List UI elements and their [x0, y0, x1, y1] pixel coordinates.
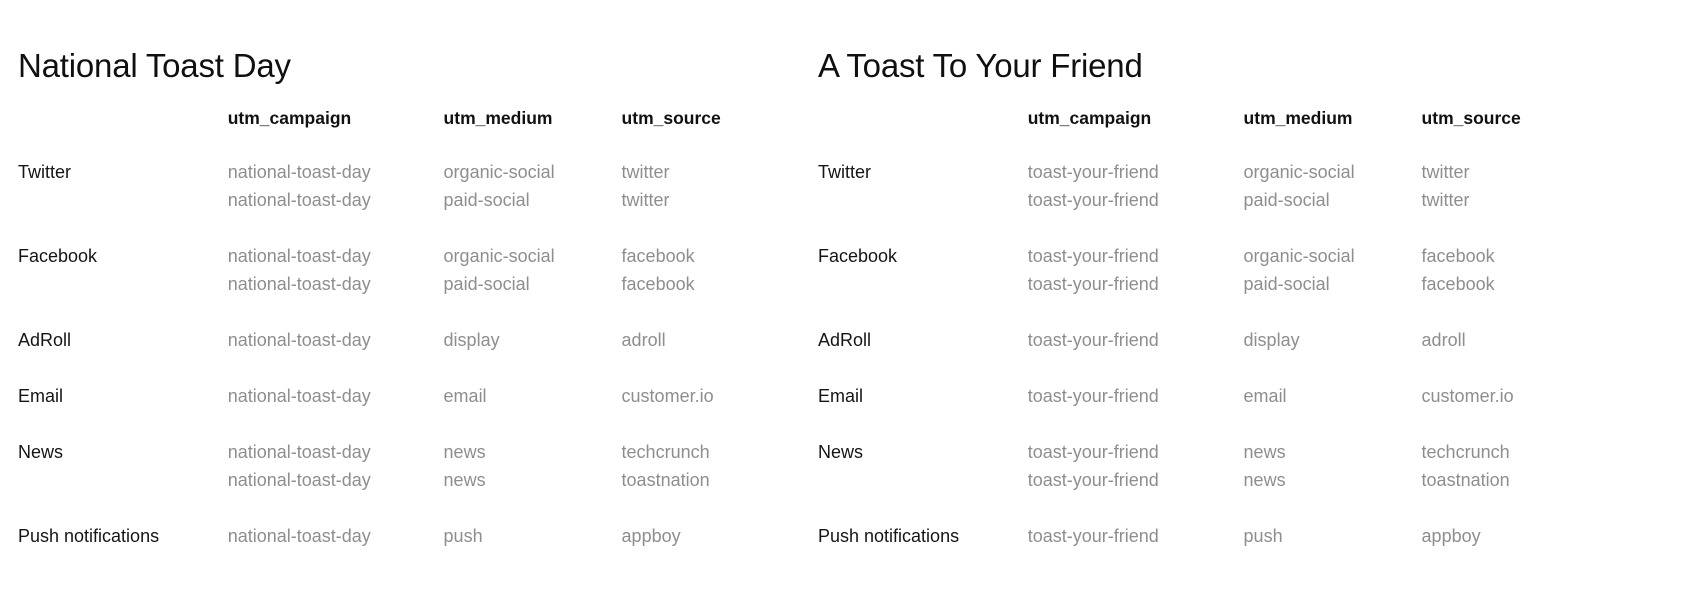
- value-stack: national-toast-day: [228, 382, 444, 410]
- column-header-channel: [818, 104, 1028, 158]
- value-text: paid-social: [1244, 270, 1422, 298]
- value-text: customer.io: [622, 382, 818, 410]
- row-label-email: Email: [818, 382, 1028, 438]
- column-header-utm-campaign: utm_campaign: [1028, 104, 1244, 158]
- cell-utm-source: customer.io: [1422, 382, 1618, 438]
- value-text: techcrunch: [622, 438, 818, 466]
- cell-utm-medium: email: [1244, 382, 1422, 438]
- value-stack: appboy: [622, 522, 818, 550]
- value-text: organic-social: [1244, 158, 1422, 186]
- cell-utm-medium: organic-socialpaid-social: [444, 158, 622, 242]
- cell-utm-medium: email: [444, 382, 622, 438]
- value-text: organic-social: [1244, 242, 1422, 270]
- page-title: National Toast Day: [18, 46, 291, 86]
- row-label-news: News: [818, 438, 1028, 522]
- value-stack: appboy: [1422, 522, 1618, 550]
- value-text: toast-your-friend: [1028, 242, 1244, 270]
- value-stack: twittertwitter: [1422, 158, 1618, 214]
- row-label-email: Email: [18, 382, 228, 438]
- value-stack: customer.io: [1422, 382, 1618, 410]
- value-stack: toast-your-friendtoast-your-friend: [1028, 158, 1244, 214]
- table-row: Emailtoast-your-friendemailcustomer.io: [818, 382, 1618, 438]
- value-text: appboy: [1422, 522, 1618, 550]
- value-stack: toast-your-friendtoast-your-friend: [1028, 242, 1244, 298]
- column-header-utm-medium: utm_medium: [1244, 104, 1422, 158]
- row-label-push-notifications: Push notifications: [818, 522, 1028, 550]
- value-text: national-toast-day: [228, 158, 444, 186]
- value-stack: email: [444, 382, 622, 410]
- value-text: display: [444, 326, 622, 354]
- cell-utm-source: twittertwitter: [1422, 158, 1618, 242]
- table-row: Push notificationsnational-toast-daypush…: [18, 522, 818, 550]
- value-stack: organic-socialpaid-social: [444, 242, 622, 298]
- row-label-twitter: Twitter: [818, 158, 1028, 242]
- value-text: toast-your-friend: [1028, 438, 1244, 466]
- value-stack: display: [444, 326, 622, 354]
- value-stack: toast-your-friend: [1028, 382, 1244, 410]
- column-header-utm-campaign: utm_campaign: [228, 104, 444, 158]
- value-stack: email: [1244, 382, 1422, 410]
- value-text: national-toast-day: [228, 270, 444, 298]
- table-row: Facebooktoast-your-friendtoast-your-frie…: [818, 242, 1618, 326]
- value-stack: facebookfacebook: [622, 242, 818, 298]
- value-text: paid-social: [444, 186, 622, 214]
- value-text: facebook: [1422, 242, 1618, 270]
- value-text: email: [1244, 382, 1422, 410]
- value-stack: national-toast-day: [228, 522, 444, 550]
- cell-utm-campaign: national-toast-day: [228, 382, 444, 438]
- table-header: utm_campaign utm_medium utm_source: [18, 104, 818, 158]
- cell-utm-medium: organic-socialpaid-social: [444, 242, 622, 326]
- page-title: A Toast To Your Friend: [818, 46, 1143, 86]
- column-header-utm-source: utm_source: [1422, 104, 1618, 158]
- value-stack: toast-your-friend: [1028, 522, 1244, 550]
- value-text: twitter: [1422, 158, 1618, 186]
- value-text: news: [444, 466, 622, 494]
- value-text: twitter: [622, 186, 818, 214]
- value-text: appboy: [622, 522, 818, 550]
- value-stack: organic-socialpaid-social: [1244, 242, 1422, 298]
- cell-utm-campaign: toast-your-friendtoast-your-friend: [1028, 242, 1244, 326]
- cell-utm-campaign: national-toast-daynational-toast-day: [228, 438, 444, 522]
- value-stack: national-toast-daynational-toast-day: [228, 242, 444, 298]
- value-stack: facebookfacebook: [1422, 242, 1618, 298]
- row-label-facebook: Facebook: [818, 242, 1028, 326]
- value-text: adroll: [622, 326, 818, 354]
- value-text: toastnation: [1422, 466, 1618, 494]
- row-label-twitter: Twitter: [18, 158, 228, 242]
- value-text: customer.io: [1422, 382, 1618, 410]
- utm-reference-sheet: National Toast Day utm_campaign utm_medi…: [0, 0, 1682, 598]
- value-text: techcrunch: [1422, 438, 1618, 466]
- value-stack: techcrunchtoastnation: [622, 438, 818, 494]
- cell-utm-source: adroll: [1422, 326, 1618, 382]
- cell-utm-source: appboy: [622, 522, 818, 550]
- cell-utm-source: appboy: [1422, 522, 1618, 550]
- value-stack: customer.io: [622, 382, 818, 410]
- value-text: toastnation: [622, 466, 818, 494]
- value-text: push: [444, 522, 622, 550]
- cell-utm-source: facebookfacebook: [622, 242, 818, 326]
- cell-utm-campaign: national-toast-daynational-toast-day: [228, 158, 444, 242]
- cell-utm-source: facebookfacebook: [1422, 242, 1618, 326]
- value-stack: push: [1244, 522, 1422, 550]
- value-stack: adroll: [1422, 326, 1618, 354]
- table-row: Facebooknational-toast-daynational-toast…: [18, 242, 818, 326]
- row-label-push-notifications: Push notifications: [18, 522, 228, 550]
- value-stack: toast-your-friendtoast-your-friend: [1028, 438, 1244, 494]
- value-text: facebook: [622, 270, 818, 298]
- table-row: Twittertoast-your-friendtoast-your-frien…: [818, 158, 1618, 242]
- row-label-facebook: Facebook: [18, 242, 228, 326]
- column-header-channel: [18, 104, 228, 158]
- value-text: toast-your-friend: [1028, 382, 1244, 410]
- cell-utm-campaign: toast-your-friendtoast-your-friend: [1028, 438, 1244, 522]
- cell-utm-medium: newsnews: [1244, 438, 1422, 522]
- value-text: facebook: [622, 242, 818, 270]
- cell-utm-medium: push: [444, 522, 622, 550]
- row-label-adroll: AdRoll: [818, 326, 1028, 382]
- value-text: news: [1244, 466, 1422, 494]
- table-row: Push notificationstoast-your-friendpusha…: [818, 522, 1618, 550]
- value-stack: techcrunchtoastnation: [1422, 438, 1618, 494]
- value-text: toast-your-friend: [1028, 186, 1244, 214]
- value-text: push: [1244, 522, 1422, 550]
- cell-utm-source: adroll: [622, 326, 818, 382]
- cell-utm-medium: push: [1244, 522, 1422, 550]
- value-stack: twittertwitter: [622, 158, 818, 214]
- value-text: national-toast-day: [228, 242, 444, 270]
- value-stack: national-toast-day: [228, 326, 444, 354]
- table-row: Newstoast-your-friendtoast-your-friendne…: [818, 438, 1618, 522]
- value-stack: newsnews: [444, 438, 622, 494]
- table-header: utm_campaign utm_medium utm_source: [818, 104, 1618, 158]
- cell-utm-campaign: national-toast-daynational-toast-day: [228, 242, 444, 326]
- table-header-row: utm_campaign utm_medium utm_source: [818, 104, 1618, 158]
- value-text: news: [1244, 438, 1422, 466]
- cell-utm-source: techcrunchtoastnation: [1422, 438, 1618, 522]
- table-row: Newsnational-toast-daynational-toast-day…: [18, 438, 818, 522]
- cell-utm-campaign: toast-your-friendtoast-your-friend: [1028, 158, 1244, 242]
- table-row: Twitternational-toast-daynational-toast-…: [18, 158, 818, 242]
- cell-utm-source: techcrunchtoastnation: [622, 438, 818, 522]
- cell-utm-medium: display: [444, 326, 622, 382]
- value-stack: national-toast-daynational-toast-day: [228, 158, 444, 214]
- value-stack: newsnews: [1244, 438, 1422, 494]
- value-stack: national-toast-daynational-toast-day: [228, 438, 444, 494]
- value-text: adroll: [1422, 326, 1618, 354]
- value-text: twitter: [622, 158, 818, 186]
- cell-utm-campaign: toast-your-friend: [1028, 326, 1244, 382]
- value-text: toast-your-friend: [1028, 522, 1244, 550]
- value-text: facebook: [1422, 270, 1618, 298]
- value-text: organic-social: [444, 242, 622, 270]
- campaign-panel-national-toast-day: National Toast Day utm_campaign utm_medi…: [0, 0, 800, 598]
- utm-table: utm_campaign utm_medium utm_source Twitt…: [818, 104, 1618, 550]
- row-label-news: News: [18, 438, 228, 522]
- value-text: paid-social: [444, 270, 622, 298]
- cell-utm-campaign: national-toast-day: [228, 522, 444, 550]
- value-text: national-toast-day: [228, 382, 444, 410]
- campaign-panel-toast-your-friend: A Toast To Your Friend utm_campaign utm_…: [800, 0, 1600, 598]
- value-text: toast-your-friend: [1028, 326, 1244, 354]
- column-header-utm-source: utm_source: [622, 104, 818, 158]
- value-text: national-toast-day: [228, 466, 444, 494]
- table-row: AdRolltoast-your-frienddisplayadroll: [818, 326, 1618, 382]
- value-text: twitter: [1422, 186, 1618, 214]
- cell-utm-medium: display: [1244, 326, 1422, 382]
- column-header-utm-medium: utm_medium: [444, 104, 622, 158]
- value-stack: display: [1244, 326, 1422, 354]
- value-text: national-toast-day: [228, 522, 444, 550]
- cell-utm-campaign: national-toast-day: [228, 326, 444, 382]
- row-label-adroll: AdRoll: [18, 326, 228, 382]
- table-body: Twitternational-toast-daynational-toast-…: [18, 158, 818, 550]
- value-text: toast-your-friend: [1028, 158, 1244, 186]
- value-stack: adroll: [622, 326, 818, 354]
- value-text: national-toast-day: [228, 326, 444, 354]
- table-row: Emailnational-toast-dayemailcustomer.io: [18, 382, 818, 438]
- cell-utm-medium: organic-socialpaid-social: [1244, 242, 1422, 326]
- cell-utm-campaign: toast-your-friend: [1028, 382, 1244, 438]
- cell-utm-source: twittertwitter: [622, 158, 818, 242]
- value-text: email: [444, 382, 622, 410]
- value-text: paid-social: [1244, 186, 1422, 214]
- value-text: toast-your-friend: [1028, 270, 1244, 298]
- cell-utm-medium: newsnews: [444, 438, 622, 522]
- value-stack: organic-socialpaid-social: [444, 158, 622, 214]
- cell-utm-medium: organic-socialpaid-social: [1244, 158, 1422, 242]
- utm-table: utm_campaign utm_medium utm_source Twitt…: [18, 104, 818, 550]
- value-text: national-toast-day: [228, 438, 444, 466]
- value-text: organic-social: [444, 158, 622, 186]
- value-text: display: [1244, 326, 1422, 354]
- cell-utm-source: customer.io: [622, 382, 818, 438]
- value-text: toast-your-friend: [1028, 466, 1244, 494]
- table-row: AdRollnational-toast-daydisplayadroll: [18, 326, 818, 382]
- value-text: national-toast-day: [228, 186, 444, 214]
- table-header-row: utm_campaign utm_medium utm_source: [18, 104, 818, 158]
- table-body: Twittertoast-your-friendtoast-your-frien…: [818, 158, 1618, 550]
- cell-utm-campaign: toast-your-friend: [1028, 522, 1244, 550]
- value-stack: toast-your-friend: [1028, 326, 1244, 354]
- value-stack: push: [444, 522, 622, 550]
- value-text: news: [444, 438, 622, 466]
- value-stack: organic-socialpaid-social: [1244, 158, 1422, 214]
